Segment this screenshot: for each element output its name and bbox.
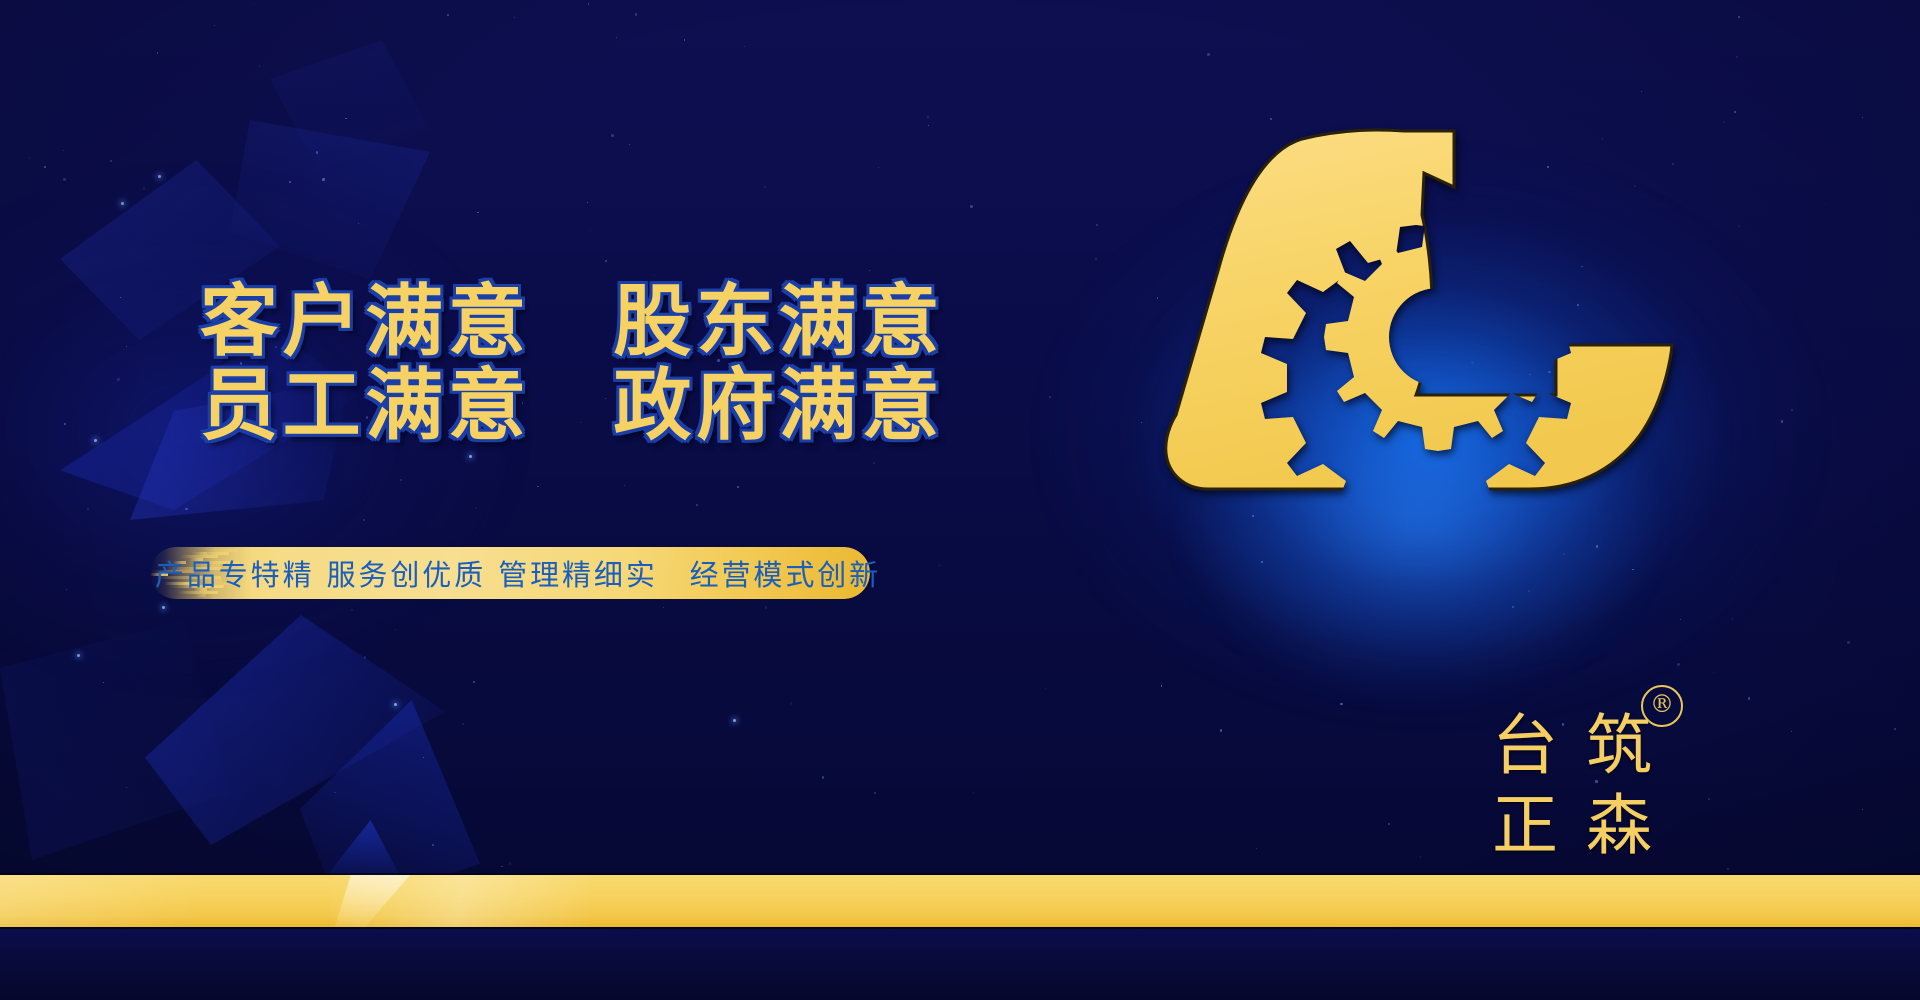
poster-canvas: 客户满意 股东满意 员工满意 政府满意 产品专特精 服务创优质 管理精细实 经营… [0, 0, 1920, 1000]
wordmark-characters: 台 筑 正 森 [1485, 707, 1659, 865]
bottom-gold-bar [0, 875, 1920, 927]
wordmark-char-1: 台 [1485, 707, 1565, 785]
logo-swoosh-shape [1166, 130, 1672, 489]
seal-wordmark: ® 台 筑 正 森 [1485, 685, 1685, 865]
gear-swoosh-logo [1132, 95, 1692, 495]
main-slogan: 客户满意 股东满意 员工满意 政府满意 [200, 280, 940, 448]
gold-bar-sheen-left [0, 875, 200, 927]
wordmark-char-4: 森 [1579, 787, 1659, 865]
wordmark-char-3: 正 [1485, 787, 1565, 865]
slogan-line-2: 员工满意 政府满意 [200, 364, 940, 448]
slogan-line-1: 客户满意 股东满意 [200, 280, 940, 364]
banner-text: 产品专特精 服务创优质 管理精细实 经营模式创新 [150, 547, 870, 599]
wordmark-char-2: 筑 [1579, 707, 1659, 785]
bottom-navy-strip [0, 929, 1920, 1000]
sub-slogan-banner: 产品专特精 服务创优质 管理精细实 经营模式创新 [150, 547, 870, 599]
